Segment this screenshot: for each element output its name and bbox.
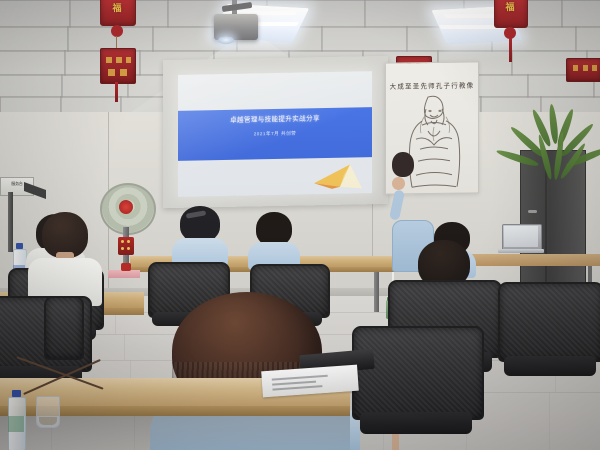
chair-backrest [352,326,484,420]
attendee-center-cap [172,206,228,262]
chair-backrest [44,296,84,360]
slide-glare [178,71,372,197]
ceiling-projector [214,14,258,40]
ornament-tassel [115,82,118,102]
fu-character: 福 [488,0,532,13]
fu-lantern-ornament-left: 福 [94,0,140,106]
fu-character: 福 [94,1,140,14]
open-laptop[interactable] [498,224,544,254]
presenter-head [392,152,414,177]
presentation-slide: 卓越管理与技能提升实战分享 2021年7月 共创营 [178,71,372,197]
poster-calligraphy: 大成至圣先师孔子行教像 [386,79,478,90]
chair-backrest [498,282,600,362]
drinking-glass-foreground [36,396,60,428]
spider-plant [512,104,600,182]
chair-seat [360,412,472,434]
attendee-center-right [248,212,300,266]
fan-hanging-ornament [118,237,134,255]
pedestal-fan [100,183,158,271]
water-bottle-foreground [6,390,26,450]
chair-mid-far-right[interactable] [498,282,600,390]
hanging-box-ornament-far-right [566,58,600,86]
attendee-left-front [28,212,102,304]
attendee-head [256,212,292,246]
bottle-cap [12,390,21,397]
laptop-screen [504,226,538,247]
ornament-knot [111,25,123,37]
glass-contents [39,417,57,425]
ornament-tassel [509,38,512,62]
fu-lantern-ornament-right: 福 [488,0,532,96]
presenter-left-arm [389,189,405,220]
chair-foreground-left[interactable] [44,296,80,374]
chair-seat [504,356,596,376]
fan-hub [119,200,133,214]
back-table-leg-right [374,272,379,312]
projector-lens [218,36,234,44]
laptop-keyboard-base [498,249,544,253]
training-room-photo: 福 福 [0,0,600,450]
cabinet-handle[interactable] [528,210,537,213]
ornament-box [100,48,136,84]
floor-tile [549,392,600,450]
presenter-face [392,177,405,190]
bottle-label [8,416,24,432]
pink-notepad [108,270,140,278]
fan-base [121,263,131,271]
chair-foreground-right[interactable] [352,326,480,450]
ornament-box [566,58,600,82]
